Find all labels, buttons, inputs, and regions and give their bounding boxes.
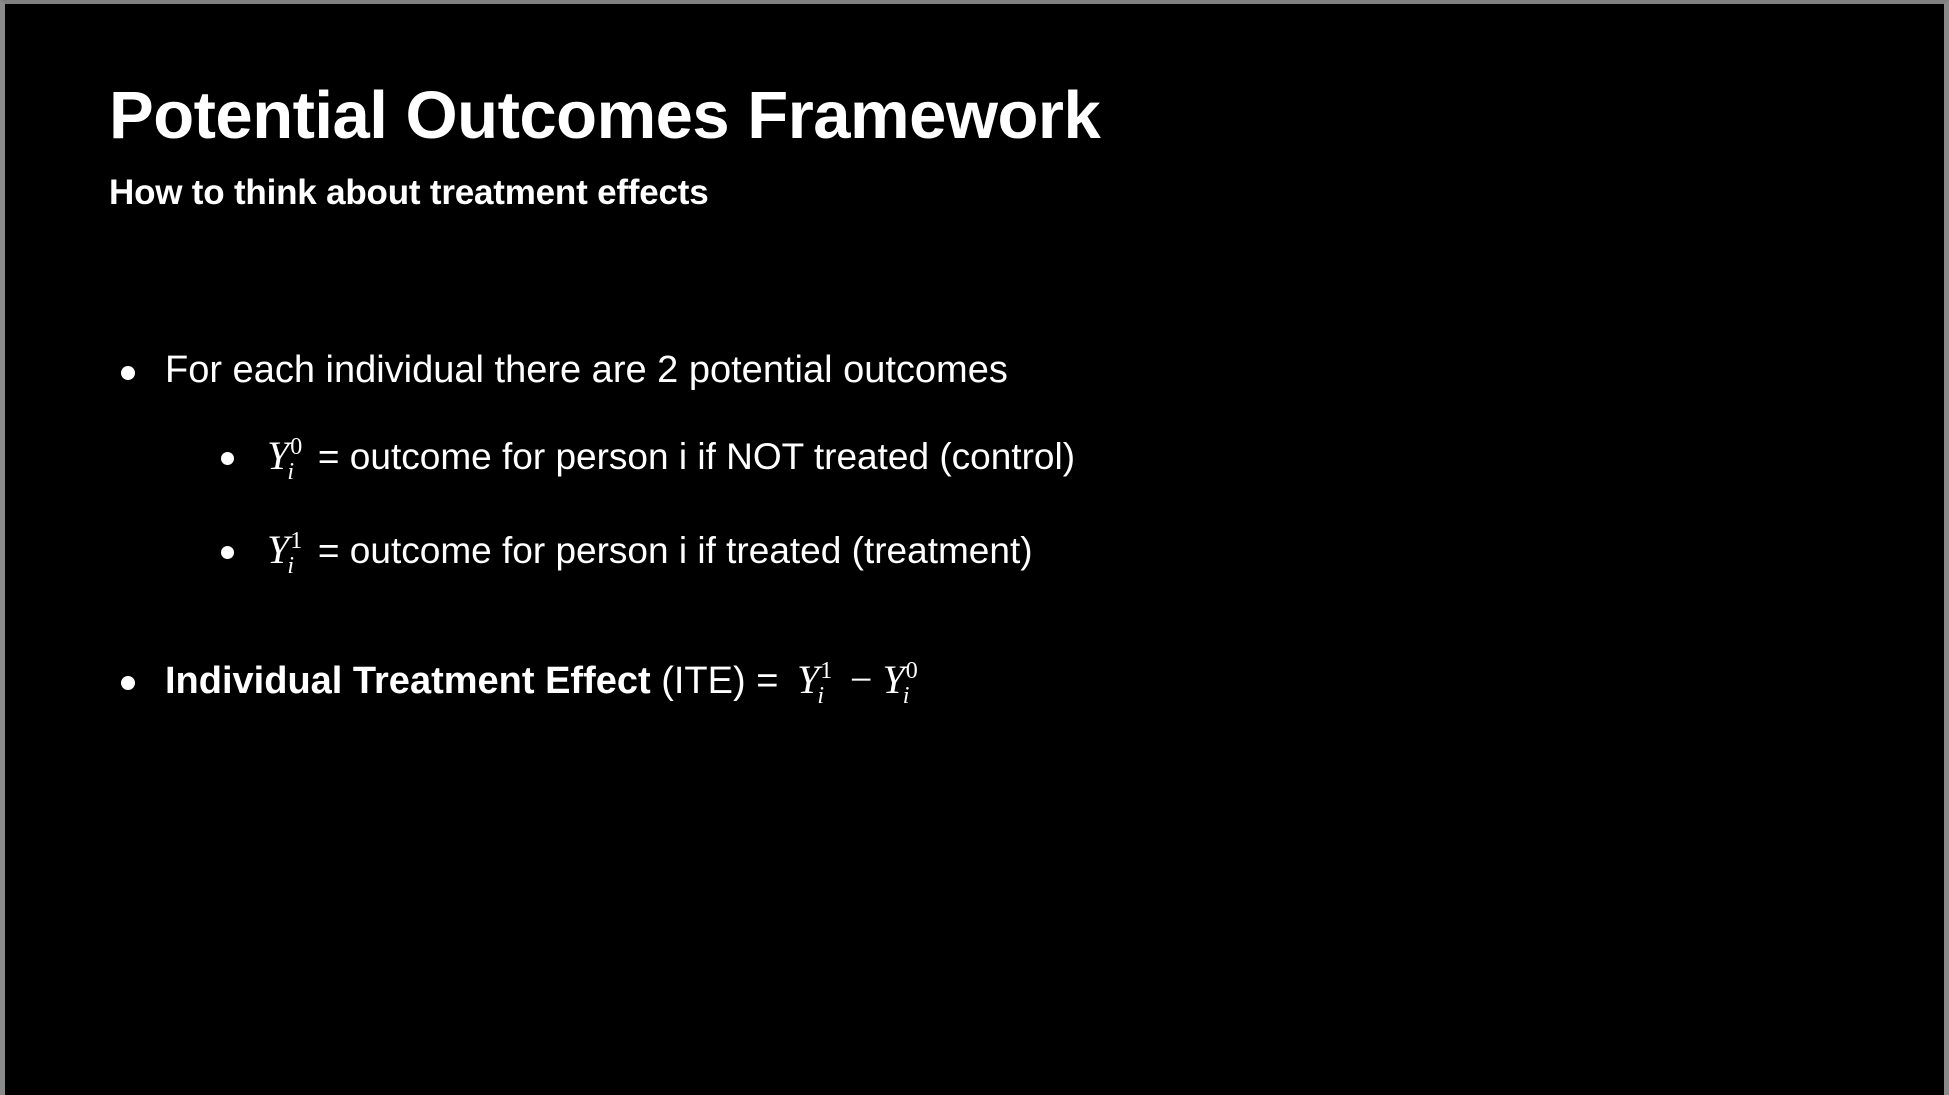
math-subscript: i [903,683,910,709]
math-base: Y [797,657,819,702]
slide-canvas: Potential Outcomes Framework How to thin… [0,0,1949,1095]
math-superscript: 1 [290,528,302,554]
math-base: Y [267,527,289,572]
math-potential-outcome-treated: Y1i [267,524,310,582]
bullet-text: For each individual there are 2 potentia… [165,349,1008,391]
math-minus-operator: − [840,657,883,702]
page-title: Potential Outcomes Framework [109,82,1809,149]
math-base: Y [882,657,904,702]
list-item: Individual Treatment Effect (ITE) = Y1i−… [109,654,1849,712]
math-ite-left-term: Y1i [797,654,840,712]
list-item: Y1i= outcome for person i if treated (tr… [109,524,1849,582]
math-subscript: i [817,683,824,709]
math-potential-outcome-control: Y0i [267,430,310,488]
math-superscript: 0 [906,658,918,684]
math-superscript: 1 [820,658,832,684]
page-subtitle: How to think about treatment effects [109,175,1809,210]
ite-label-bold: Individual Treatment Effect [165,660,651,702]
bullet-text: = outcome for person i if NOT treated (c… [318,436,1075,477]
bullet-dot-icon [121,366,135,380]
slide-content: Potential Outcomes Framework How to thin… [5,4,1944,1095]
list-item: For each individual there are 2 potentia… [109,344,1849,396]
ite-label-rest: (ITE) = [661,660,778,702]
math-subscript: i [287,553,294,579]
slide-body: For each individual there are 2 potentia… [109,344,1849,712]
sub-bullet-list: Y0i= outcome for person i if NOT treated… [109,430,1849,582]
math-subscript: i [287,459,294,485]
math-base: Y [267,433,289,478]
math-superscript: 0 [290,434,302,460]
bullet-dot-icon [221,452,234,465]
slide-heading: Potential Outcomes Framework How to thin… [109,82,1809,210]
bullet-dot-icon [221,546,234,559]
bullet-dot-icon [121,676,135,690]
list-item: Y0i= outcome for person i if NOT treated… [109,430,1849,488]
math-ite-right-term: Y0i [882,654,925,712]
bullet-text: = outcome for person i if treated (treat… [318,530,1033,571]
